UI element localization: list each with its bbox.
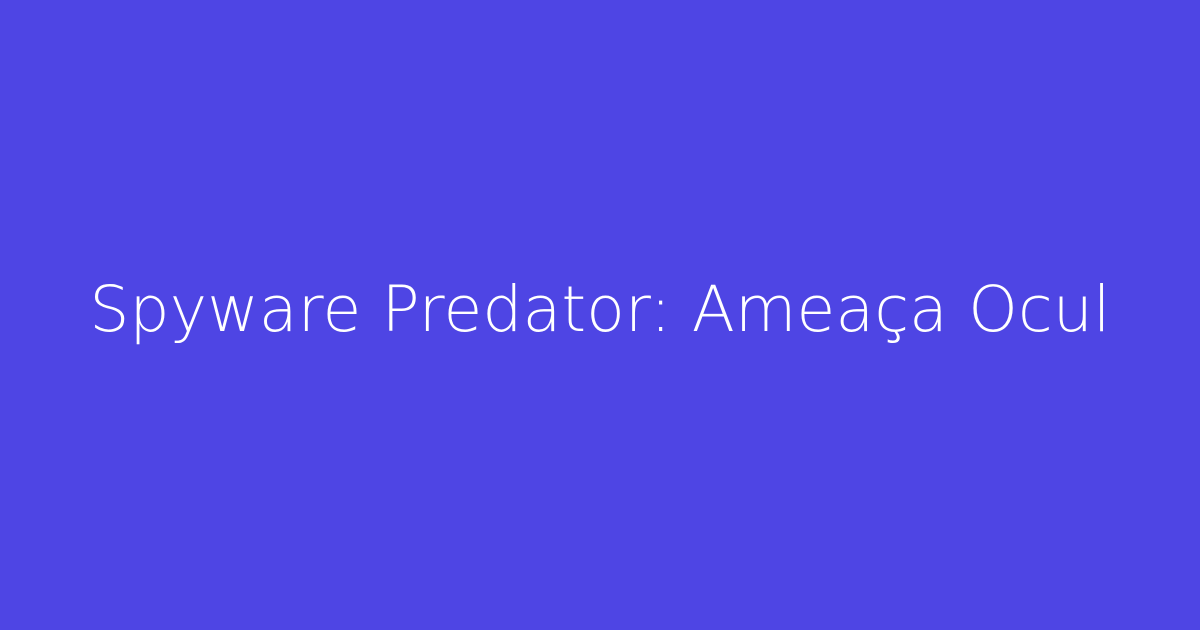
headline-band: Spyware Predator: Ameaça Ocul — [0, 0, 1200, 630]
social-preview-card: Spyware Predator: Ameaça Ocul — [0, 0, 1200, 630]
page-title: Spyware Predator: Ameaça Ocul — [89, 273, 1110, 347]
